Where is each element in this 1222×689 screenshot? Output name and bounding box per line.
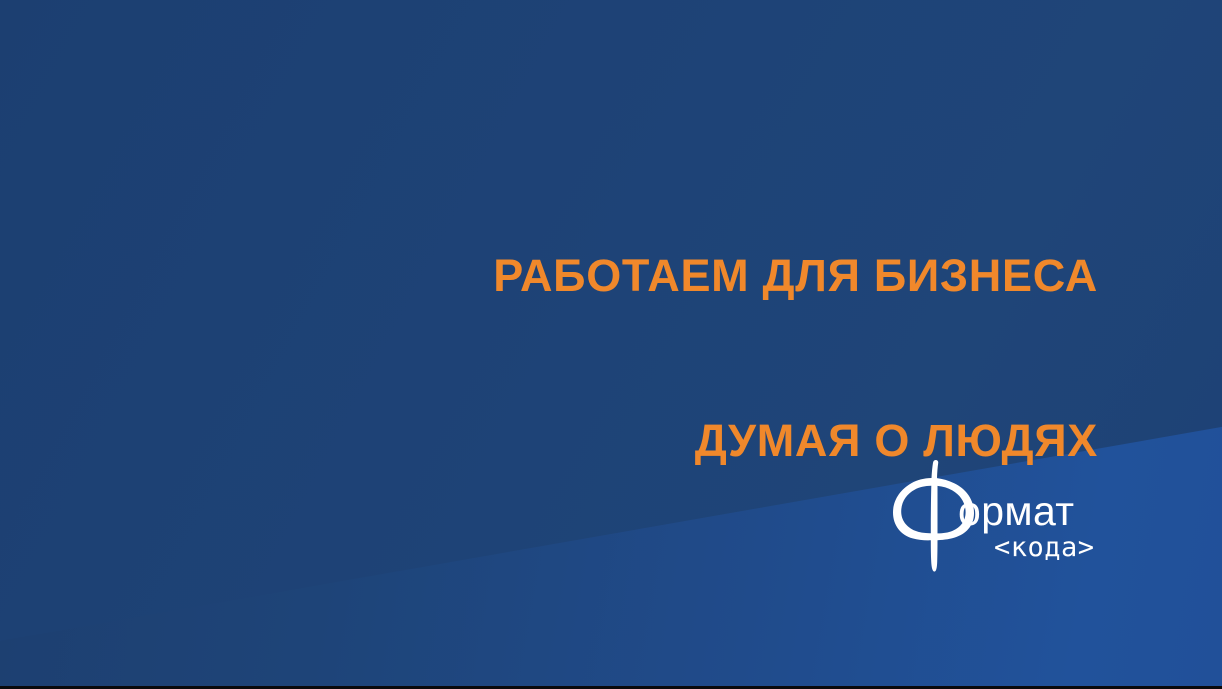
headline-line-1: РАБОТАЕМ ДЛЯ БИЗНЕСА	[0, 248, 1098, 303]
logo-subtitle: <кода>	[994, 534, 1095, 561]
logo-wordmark: ормат	[958, 491, 1074, 532]
presentation-slide: РАБОТАЕМ ДЛЯ БИЗНЕСА ДУМАЯ О ЛЮДЯХ ормат…	[0, 0, 1222, 689]
company-logo: ормат <кода>	[888, 458, 1098, 576]
